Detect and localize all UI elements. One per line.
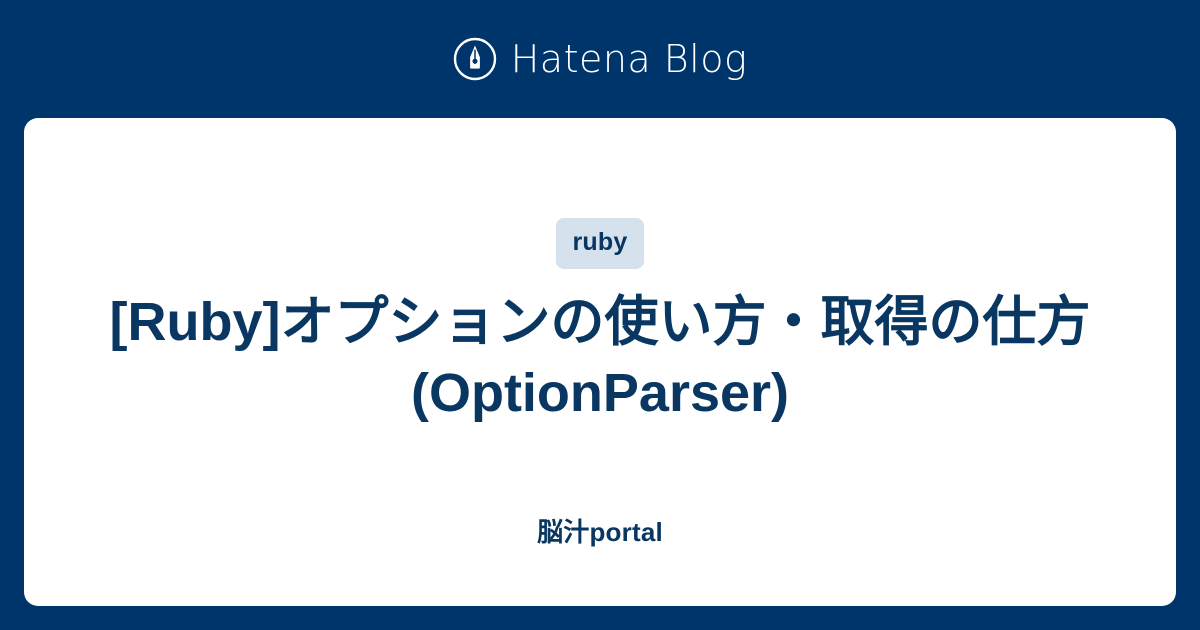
entry-title: [Ruby]オプションの使い方・取得の仕方(OptionParser) xyxy=(24,287,1176,430)
tag-badge-ruby[interactable]: ruby xyxy=(556,218,645,269)
brand-header: Hatena Blog xyxy=(0,0,1200,118)
tag-list: ruby xyxy=(24,218,1176,269)
hatena-pen-nib-icon xyxy=(453,37,497,81)
entry-card: ruby [Ruby]オプションの使い方・取得の仕方(OptionParser)… xyxy=(24,118,1176,606)
blog-name: 脳汁portal xyxy=(24,517,1176,548)
hatena-blog-og-card: Hatena Blog ruby [Ruby]オプションの使い方・取得の仕方(O… xyxy=(0,0,1200,630)
brand-name: Hatena Blog xyxy=(511,40,748,78)
